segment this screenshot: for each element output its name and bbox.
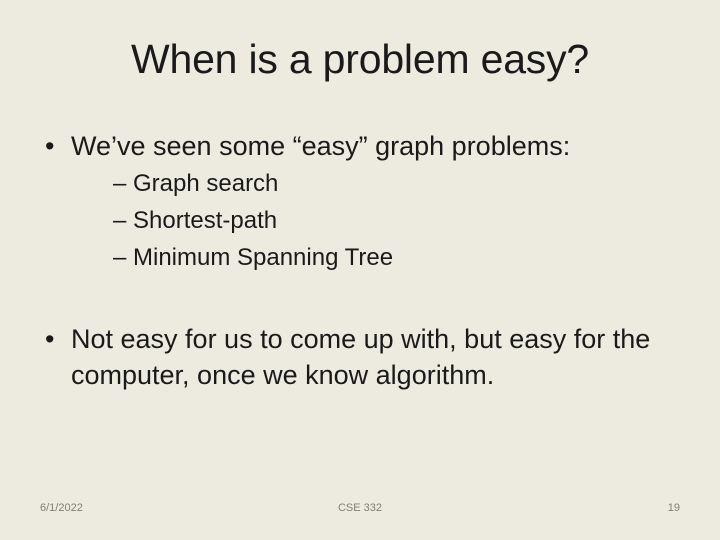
list-item-text: Graph search — [133, 165, 680, 202]
list-item-text: Shortest-path — [133, 202, 680, 239]
dash-marker-icon: – — [113, 202, 126, 239]
list-item: • Not easy for us to come up with, but e… — [40, 321, 680, 393]
list-item: – Shortest-path — [71, 202, 680, 239]
page-title: When is a problem easy? — [40, 36, 680, 83]
dash-marker-icon: – — [113, 239, 126, 276]
list-item-text: Minimum Spanning Tree — [133, 239, 680, 276]
bullet-list: • We’ve seen some “easy” graph problems:… — [40, 128, 680, 393]
bullet-marker-icon: • — [45, 128, 54, 164]
list-item: – Minimum Spanning Tree — [71, 239, 680, 276]
bullet-marker-icon: • — [45, 321, 54, 357]
list-item: • We’ve seen some “easy” graph problems:… — [40, 128, 680, 276]
presentation-slide: When is a problem easy? • We’ve seen som… — [0, 0, 720, 540]
blank-line-spacer — [40, 276, 680, 321]
list-item: – Graph search — [71, 165, 680, 202]
list-item-text: We’ve seen some “easy” graph problems: — [71, 128, 680, 164]
slide-body: • We’ve seen some “easy” graph problems:… — [40, 128, 680, 393]
dash-marker-icon: – — [113, 165, 126, 202]
list-item-text: Not easy for us to come up with, but eas… — [71, 321, 680, 393]
footer-slide-number: 19 — [668, 500, 680, 516]
slide-footer: 6/1/2022 CSE 332 19 — [0, 500, 720, 524]
sub-bullet-list: – Graph search – Shortest-path – Minimum… — [71, 165, 680, 276]
footer-course-label: CSE 332 — [0, 500, 720, 516]
